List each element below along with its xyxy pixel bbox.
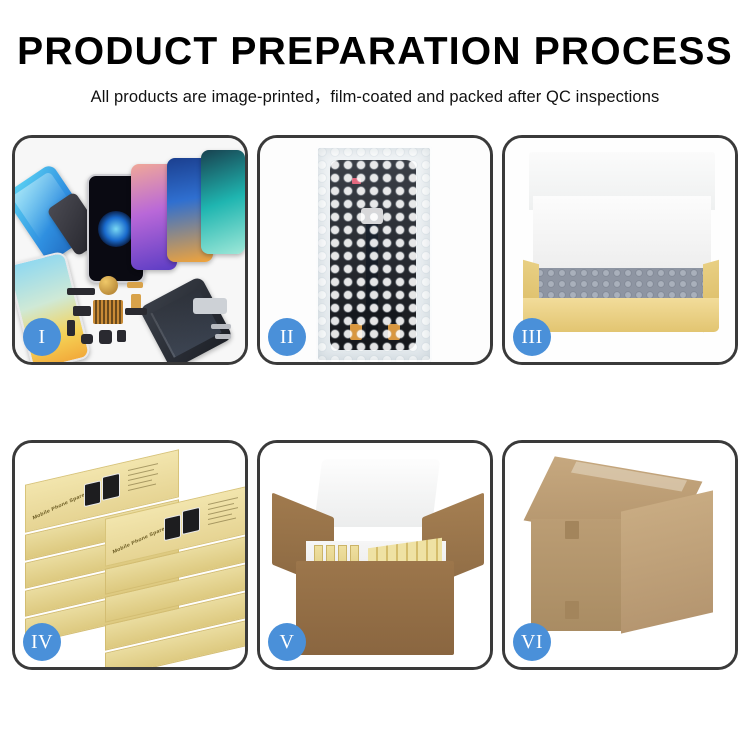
header: PRODUCT PREPARATION PROCESS All products… (0, 0, 750, 107)
box-screen-image-2a (164, 514, 181, 541)
bag-edge (316, 146, 432, 362)
part-gold-flex (127, 282, 143, 288)
carton-right-face (621, 490, 713, 633)
step-badge-1: I (23, 318, 61, 356)
part-tool-2 (215, 334, 231, 339)
box-screen-image-2b (182, 507, 200, 535)
part-chip-b (67, 320, 75, 336)
part-connector-grid (93, 300, 123, 324)
step-badge-2: II (268, 318, 306, 356)
step-panel-2: II (257, 135, 493, 365)
box-screen-image-1a (84, 480, 101, 507)
step-panel-6: VI (502, 440, 738, 670)
phone-teal-screen (201, 150, 245, 254)
speaker-part-icon (99, 276, 118, 295)
step-panel-5: V (257, 440, 493, 670)
carton-tab-upper (565, 521, 579, 539)
part-battery (81, 334, 93, 344)
step-badge-3: III (513, 318, 551, 356)
product-preparation-infographic: PRODUCT PREPARATION PROCESS All products… (0, 0, 750, 750)
bubble-wrap-bag (316, 146, 432, 362)
step-badge-4: IV (23, 623, 61, 661)
step-panel-4: Mobile Phone Spare Parts Mobile Phone Sp… (12, 440, 248, 670)
carton-body (296, 561, 454, 655)
part-vibrator (117, 330, 126, 342)
carton-tab-lower (565, 601, 579, 619)
part-tweezers (193, 298, 227, 314)
part-chip-a (73, 306, 91, 316)
box-front-panel (523, 298, 719, 332)
step-badge-5: V (268, 623, 306, 661)
part-tool-1 (211, 324, 231, 329)
part-cable (125, 308, 147, 315)
box-screen-image-1b (102, 473, 120, 501)
step-badge-6: VI (513, 623, 551, 661)
part-strip-1 (67, 288, 95, 295)
page-title: PRODUCT PREPARATION PROCESS (0, 32, 750, 71)
step-panel-3: III (502, 135, 738, 365)
step-panel-1: I (12, 135, 248, 365)
page-subtitle: All products are image-printed，film-coat… (0, 83, 750, 107)
phone-back-housing (139, 276, 234, 362)
foam-sheet (533, 196, 711, 274)
part-camera (99, 330, 112, 344)
process-steps-grid: I II (12, 135, 738, 690)
